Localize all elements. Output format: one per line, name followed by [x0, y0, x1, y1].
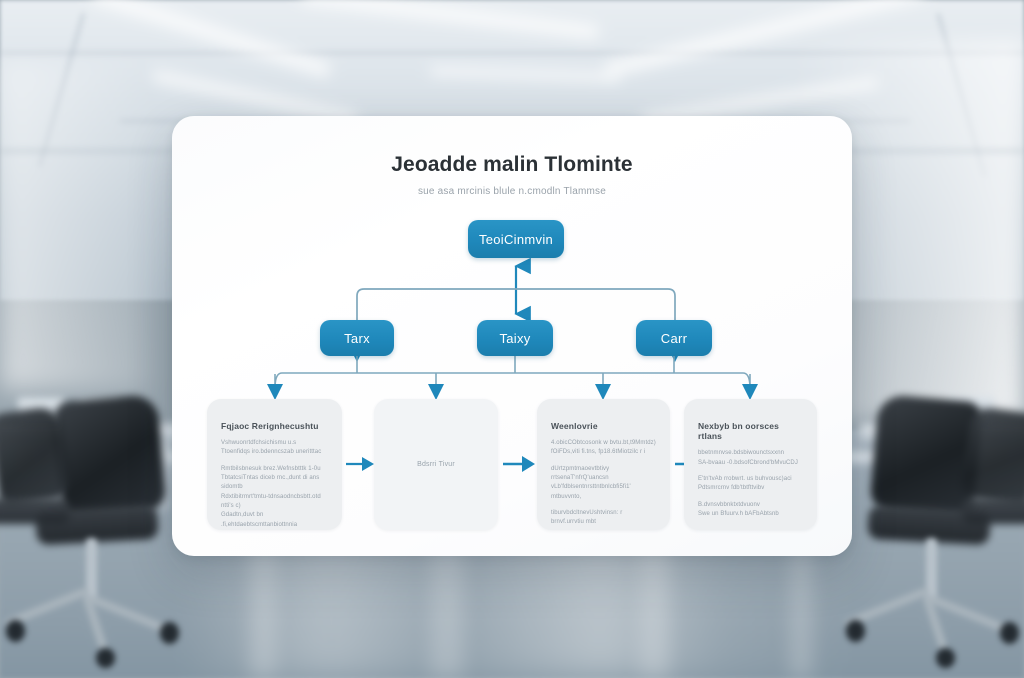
- flow-card-center-label: Bdsrri Tivur: [417, 461, 455, 468]
- window-glare-left: [0, 60, 150, 390]
- node-branch-c[interactable]: Carr: [636, 320, 712, 356]
- flow-card-paragraph: B.dvnsvbbnktxtdvuonv Swe un Bfuurv.h bAF…: [698, 501, 803, 520]
- flow-card-1[interactable]: Fqjaoc Rerignhecushtu Vshwuonrtdfchsichi…: [207, 399, 342, 530]
- page-title: Jeoadde malin Tlominte: [172, 153, 852, 177]
- flow-card-title: Nexbyb bn oorsces rtlans: [698, 421, 803, 441]
- flow-card-paragraph: 4.obicCObtcosonk w bvtu.bt,t9Mmtdz) fOiF…: [551, 439, 656, 458]
- office-chair-wheel: [160, 622, 179, 644]
- office-chair-wheel: [846, 620, 865, 642]
- flow-card-title: Fqjaoc Rerignhecushtu: [221, 421, 328, 431]
- flow-card-2[interactable]: Bdsrri Tivur: [374, 399, 498, 530]
- office-chair-wheel: [936, 648, 955, 668]
- office-chair-seat: [962, 498, 1024, 524]
- office-chair-wheel: [96, 648, 115, 668]
- slide-scene: Jeoadde malin Tlominte sue asa mrcinis b…: [0, 0, 1024, 678]
- slide-panel: Jeoadde malin Tlominte sue asa mrcinis b…: [172, 116, 852, 556]
- flow-card-paragraph: Vshwuonrtdfchsichismu u.s Ttoenfidqs iro…: [221, 439, 328, 458]
- node-root[interactable]: TeoiCinmvin: [468, 220, 564, 258]
- flow-card-paragraph: dUrtzpmtmaoevtbtivy rrtsenaT'nfrQ'uancsn…: [551, 465, 656, 502]
- flow-card-4[interactable]: Nexbyb bn oorsces rtlans bbetnmnvse.bdsb…: [684, 399, 817, 530]
- flow-card-paragraph: E'tn'tvAb rrobwrt. us buhvousc)aci Pdtsm…: [698, 475, 803, 494]
- node-branch-b[interactable]: Taixy: [477, 320, 553, 356]
- connector-card-down-arrows: [267, 384, 758, 400]
- office-chair-wheel: [1000, 622, 1019, 644]
- page-subtitle: sue asa mrcinis blule n.cmodln Tlammse: [172, 186, 852, 197]
- office-chair-seat: [0, 498, 70, 524]
- office-chair-back: [53, 394, 167, 519]
- flow-card-paragraph: bbetnmnvse.bdsbiwounctsxxnn SA-bvaau -0.…: [698, 449, 803, 468]
- flow-card-paragraph: Rmtbilsbnesuk brez.Wefnsbtttk 1-0u Tbtat…: [221, 465, 328, 530]
- flow-card-title: Weenlovrie: [551, 421, 656, 431]
- flow-card-paragraph: tiburvbdcltnevUshtvinsn: r brnvf.urrvtiu…: [551, 509, 656, 528]
- connector-lower-bus: [275, 356, 750, 388]
- office-chair-wheel: [6, 620, 25, 642]
- flow-card-3[interactable]: Weenlovrie 4.obicCObtcosonk w bvtu.bt,t9…: [537, 399, 670, 530]
- node-branch-a[interactable]: Tarx: [320, 320, 394, 356]
